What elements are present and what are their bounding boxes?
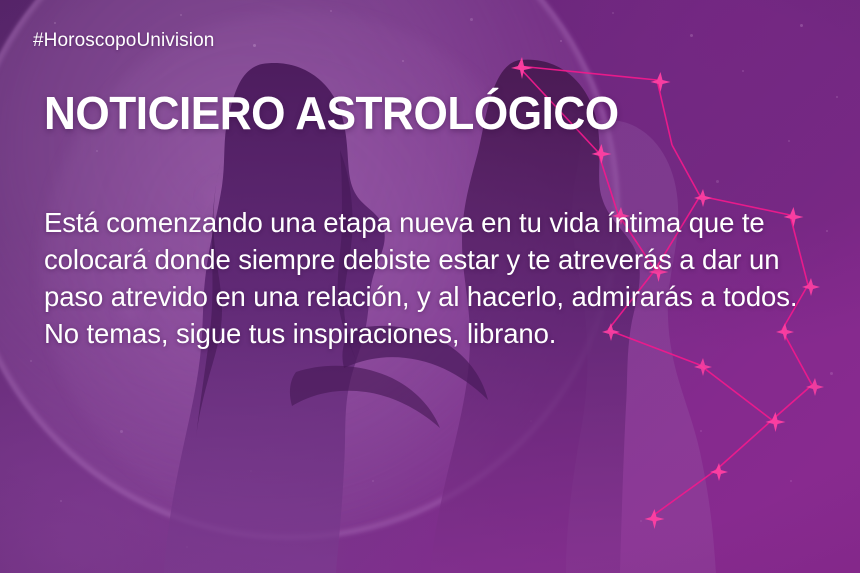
horoscope-card: #HoroscopoUnivision NOTICIERO ASTROLÓGIC… [0, 0, 860, 573]
text-content: #HoroscopoUnivision NOTICIERO ASTROLÓGIC… [0, 0, 860, 573]
page-title: NOTICIERO ASTROLÓGICO [44, 88, 619, 138]
horoscope-body-text: Está comenzando una etapa nueva en tu vi… [44, 204, 834, 352]
hashtag-label: #HoroscopoUnivision [33, 30, 214, 52]
